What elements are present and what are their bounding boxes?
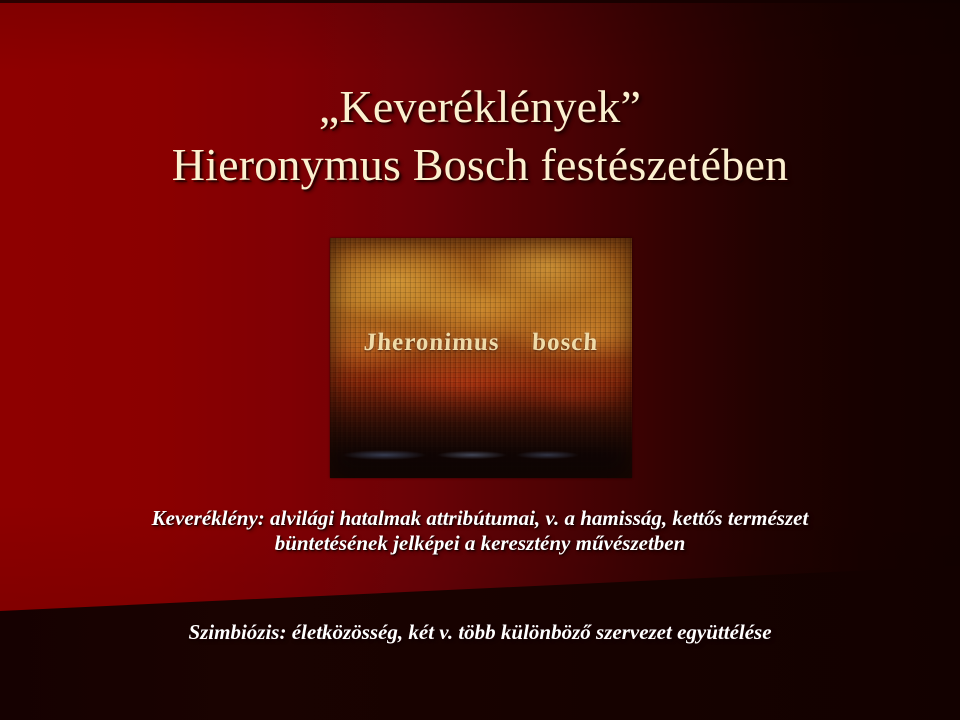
presentation-slide: „Keveréklények” Hieronymus Bosch festész… (0, 0, 960, 720)
bosch-signature-image: Jheronimus bosch (330, 238, 632, 478)
definition-szimbiozis: Szimbiózis: életközösség, két v. több kü… (0, 620, 960, 645)
definition-text: alvilági hatalmak attribútumai, v. a ham… (270, 506, 808, 555)
definition-separator: : (258, 506, 270, 530)
definition-keverekleny: Keveréklény: alvilági hatalmak attribútu… (0, 506, 960, 556)
definition-text: életközösség, két v. több különböző szer… (292, 620, 772, 644)
definition-term: Szimbiózis (188, 620, 279, 644)
slide-title-line-1: „Keveréklények” (319, 81, 641, 132)
definition-term: Keveréklény (152, 506, 258, 530)
picture-vignette (330, 238, 632, 478)
definition-separator: : (279, 620, 291, 644)
slide-title: „Keveréklények” Hieronymus Bosch festész… (0, 78, 960, 194)
slide-title-line-2: Hieronymus Bosch festészetében (0, 136, 960, 194)
